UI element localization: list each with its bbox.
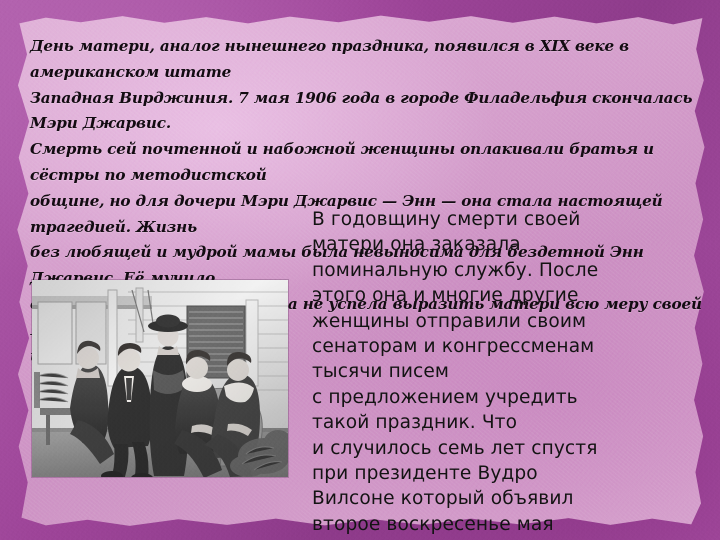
vintage-family-photograph <box>32 280 288 477</box>
anna-jarvis-paragraph: В годовщину смерти своей матери она зака… <box>312 207 712 537</box>
presentation-slide: День матери, аналог нынешнего праздника,… <box>0 0 720 540</box>
photo-image <box>32 280 288 477</box>
